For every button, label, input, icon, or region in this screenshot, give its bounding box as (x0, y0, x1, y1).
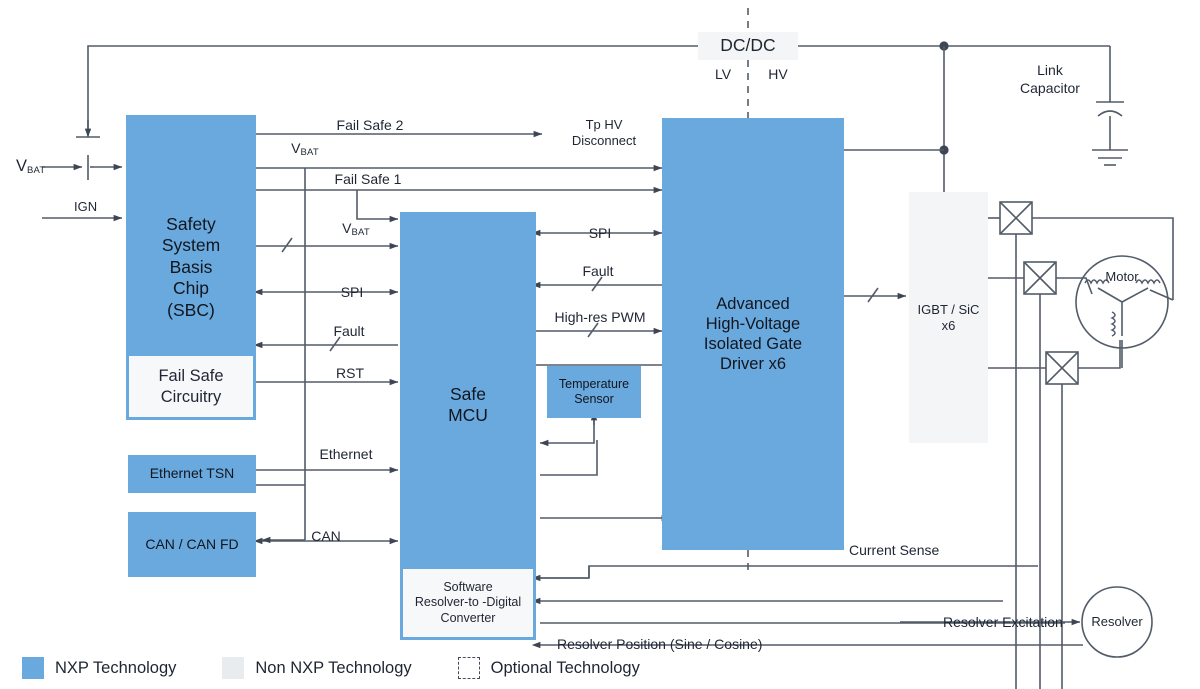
block-diagram-canvas: Safety System Basis Chip (SBC) Fail Safe… (0, 0, 1200, 689)
label-lv: LV (715, 66, 731, 82)
ethernet-tsn-label: Ethernet TSN (150, 465, 235, 482)
block-can-fd[interactable]: CAN / CAN FD (128, 512, 256, 577)
legend-label-nxp: NXP Technology (55, 659, 176, 678)
fail-safe-line-0: Fail Safe (158, 366, 223, 386)
legend-label-optional: Optional Technology (491, 659, 640, 678)
non-nxp-swatch-icon (222, 657, 244, 679)
label-rst: RST (336, 365, 364, 381)
link-cap-line-0: Link (1020, 62, 1080, 80)
igbt-line-1: x6 (918, 318, 980, 334)
block-temperature-sensor[interactable]: Temperature Sensor (547, 366, 641, 418)
gate-driver-line-2: Isolated Gate (704, 334, 802, 354)
label-spi-right: SPI (589, 225, 612, 241)
igbt-line-0: IGBT / SiC (918, 302, 980, 318)
gate-driver-line-0: Advanced (704, 294, 802, 314)
rdc-line-0: Software (415, 580, 521, 595)
block-fail-safe-circuitry[interactable]: Fail Safe Circuitry (128, 355, 254, 418)
label-hv: HV (768, 66, 787, 82)
sbc-line-0: Safety (162, 214, 220, 235)
legend: NXP Technology Non NXP Technology Option… (22, 657, 686, 679)
block-gate-driver[interactable]: Advanced High-Voltage Isolated Gate Driv… (662, 118, 844, 550)
rdc-line-2: Converter (415, 611, 521, 626)
label-fail-safe-2: Fail Safe 2 (337, 117, 404, 133)
dcdc-label: DC/DC (720, 35, 775, 56)
rdc-line-1: Resolver-to -Digital (415, 595, 521, 610)
legend-label-non-nxp: Non NXP Technology (255, 659, 411, 678)
label-resolver-excitation: Resolver Excitation (943, 614, 1063, 630)
legend-item-optional: Optional Technology (458, 657, 640, 679)
label-link-capacitor: Link Capacitor (1020, 62, 1080, 97)
label-vbat-mcu-in: VBAT (342, 220, 370, 238)
gate-driver-line-1: High-Voltage (704, 314, 802, 334)
block-ethernet-tsn[interactable]: Ethernet TSN (128, 455, 256, 493)
legend-item-nxp: NXP Technology (22, 657, 176, 679)
gate-driver-line-3: Driver x6 (704, 354, 802, 374)
sbc-line-4: (SBC) (162, 300, 220, 321)
optional-dashed-swatch-icon (458, 657, 480, 679)
label-resolver-position: Resolver Position (Sine / Cosine) (557, 636, 762, 652)
sbc-line-2: Basis (162, 257, 220, 278)
safe-mcu-line-0: Safe (400, 384, 536, 405)
block-software-resolver-to-digital-converter[interactable]: Software Resolver-to -Digital Converter (402, 568, 534, 638)
legend-item-non-nxp: Non NXP Technology (222, 657, 411, 679)
link-cap-line-1: Capacitor (1020, 80, 1080, 98)
label-fault-right: Fault (582, 263, 613, 279)
motor-label: Motor (1105, 269, 1138, 284)
temp-sensor-line-0: Temperature (559, 377, 629, 392)
block-igbt-sic[interactable]: IGBT / SiC x6 (909, 192, 988, 443)
tp-hv-line-0: Tp HV (572, 117, 636, 133)
label-high-res-pwm: High-res PWM (554, 309, 645, 325)
resolver-label: Resolver (1091, 614, 1142, 629)
tp-hv-line-1: Disconnect (572, 133, 636, 149)
safe-mcu-line-1: MCU (400, 405, 536, 426)
label-tp-hv-disconnect: Tp HV Disconnect (572, 117, 636, 150)
label-vbat-input: VBAT (16, 157, 45, 176)
label-can: CAN (311, 528, 341, 544)
label-fail-safe-1: Fail Safe 1 (335, 171, 402, 187)
temp-sensor-line-1: Sensor (559, 392, 629, 407)
sbc-line-1: System (162, 235, 220, 256)
label-vbat-sbc-out: VBAT (291, 140, 319, 158)
label-ethernet: Ethernet (320, 446, 373, 462)
sbc-line-3: Chip (162, 278, 220, 299)
can-fd-label: CAN / CAN FD (145, 536, 238, 553)
label-fault-left: Fault (333, 323, 364, 339)
label-ign: IGN (74, 199, 97, 214)
fail-safe-line-1: Circuitry (158, 387, 223, 407)
block-dcdc[interactable]: DC/DC (698, 32, 798, 60)
label-spi-left: SPI (341, 284, 364, 300)
nxp-swatch-icon (22, 657, 44, 679)
label-current-sense: Current Sense (849, 542, 939, 558)
